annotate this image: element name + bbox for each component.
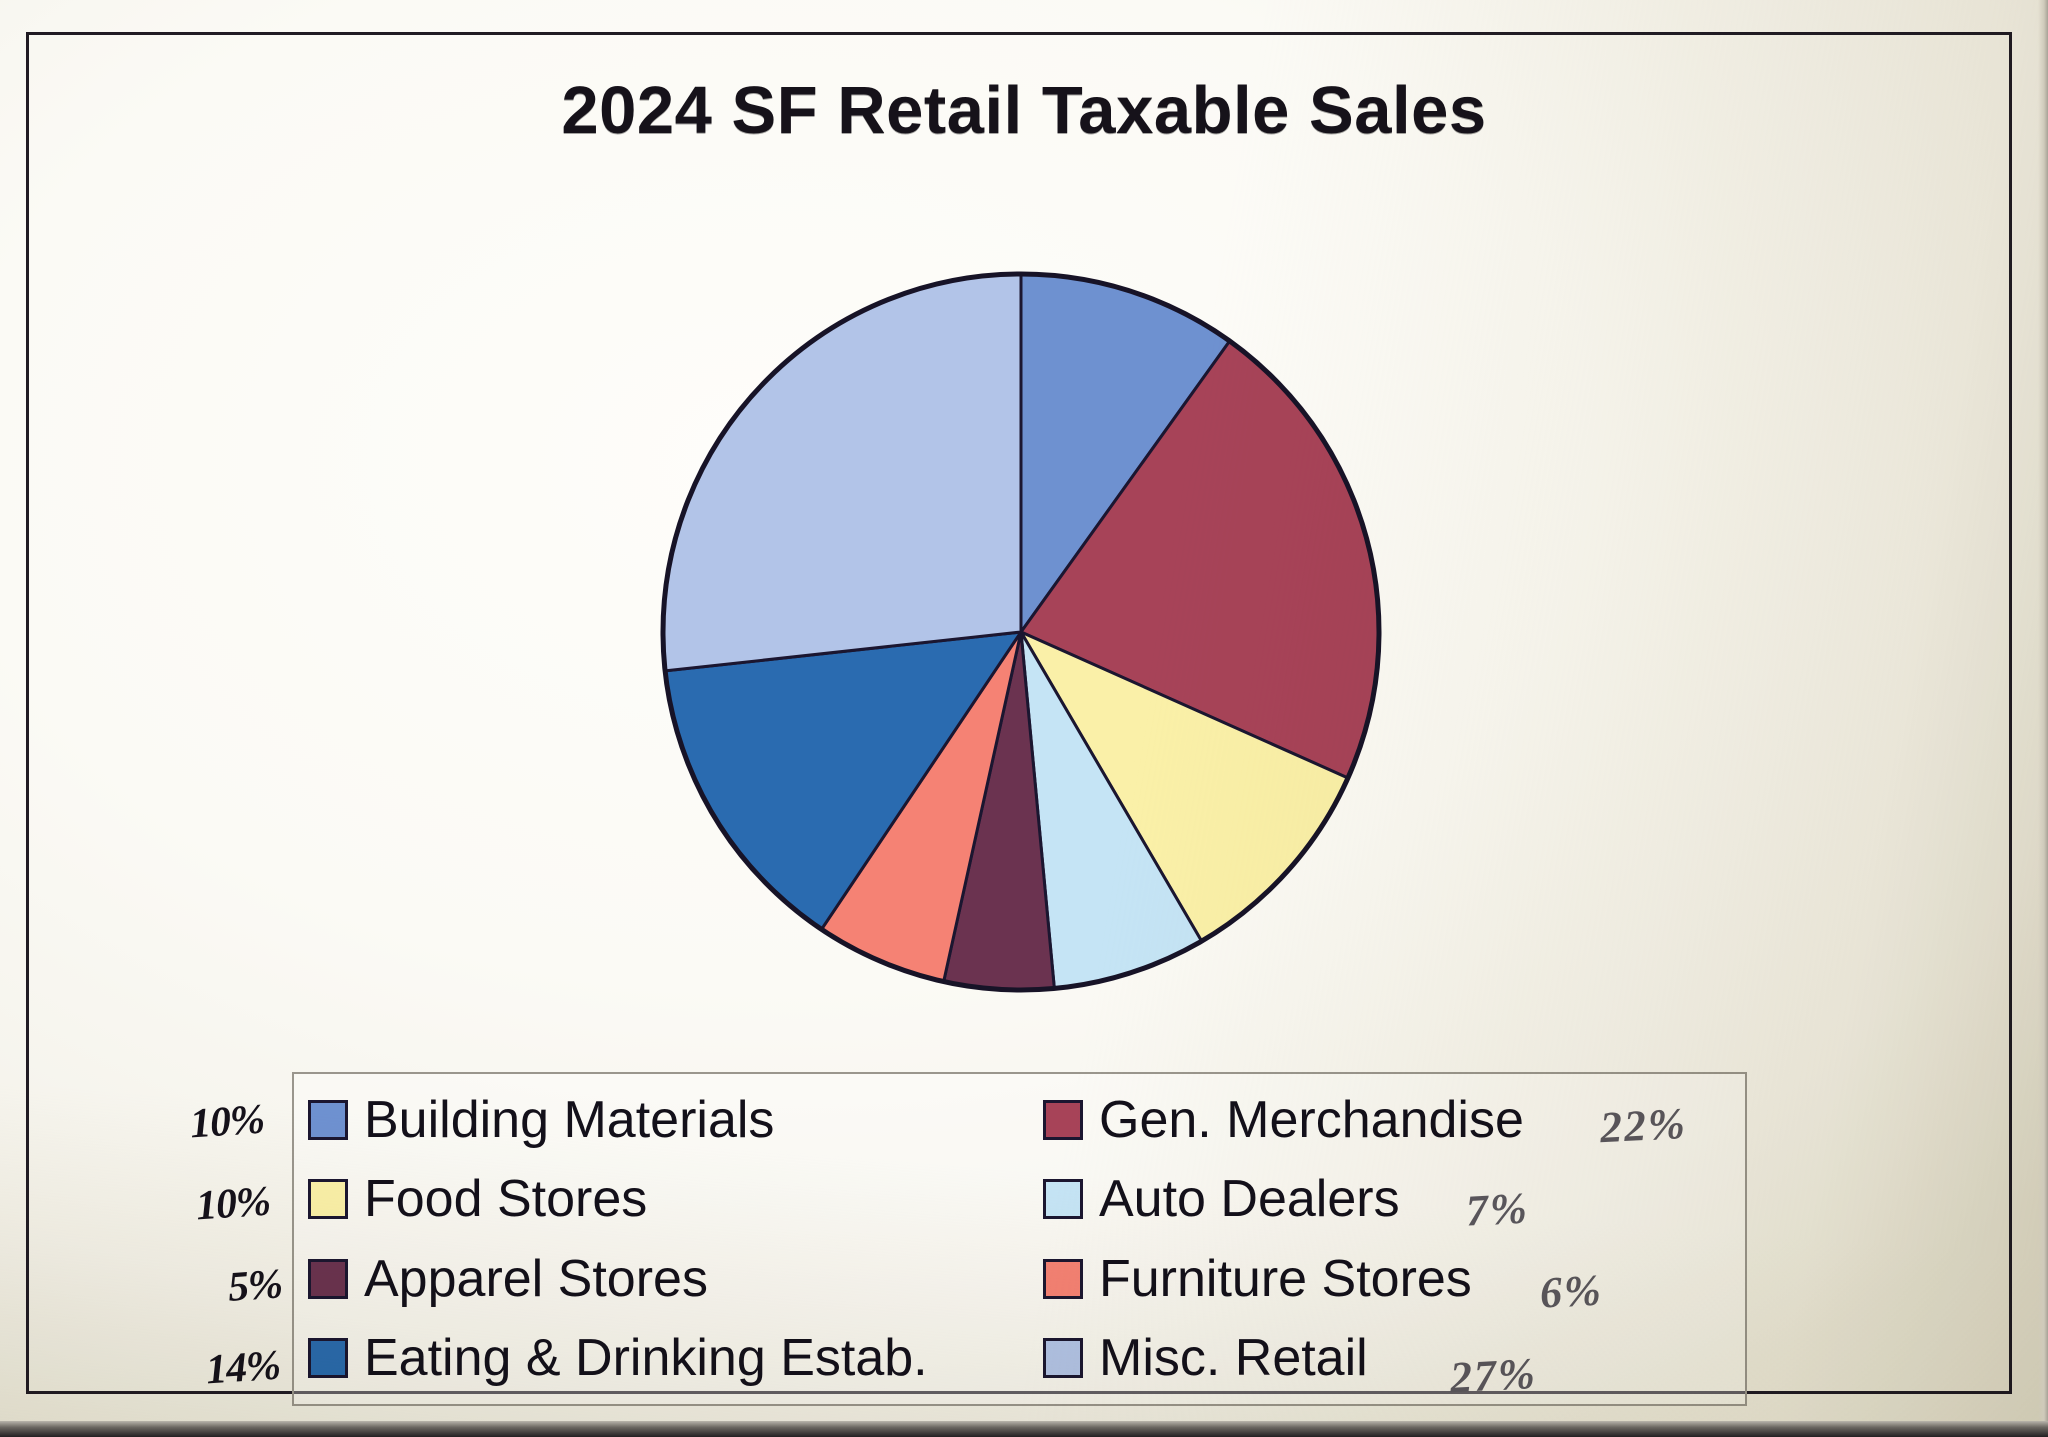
legend-item-food-stores[interactable]: Food Stores (308, 1160, 1043, 1240)
handwritten-percent-eating-drinking: 14% (204, 1341, 281, 1394)
pie-chart-svg (651, 262, 1391, 1002)
handwritten-percent-building-materials: 10% (188, 1095, 265, 1148)
desk-edge (0, 1421, 2048, 1437)
pie-slice-group (663, 274, 1379, 990)
legend-item-auto-dealers[interactable]: Auto Dealers (1043, 1160, 1763, 1240)
legend-item-label: Gen. Merchandise (1099, 1094, 1524, 1146)
legend-item-eating-drinking[interactable]: Eating & Drinking Estab. (308, 1319, 1043, 1399)
page-title: 2024 SF Retail Taxable Sales (0, 72, 2048, 149)
pie-chart (651, 262, 1391, 1002)
legend-swatch-icon (1043, 1259, 1083, 1299)
legend-swatch-icon (1043, 1100, 1083, 1140)
legend-item-misc-retail[interactable]: Misc. Retail (1043, 1319, 1763, 1399)
legend: Building Materials Gen. Merchandise Food… (292, 1072, 1747, 1406)
legend-swatch-icon (308, 1179, 348, 1219)
legend-item-label: Building Materials (364, 1094, 774, 1146)
legend-item-furniture-stores[interactable]: Furniture Stores (1043, 1239, 1763, 1319)
legend-item-label: Misc. Retail (1099, 1332, 1368, 1384)
pie-slice[interactable] (663, 274, 1021, 671)
handwritten-percent-food-stores: 10% (194, 1177, 271, 1230)
legend-swatch-icon (308, 1100, 348, 1140)
legend-item-label: Furniture Stores (1099, 1253, 1472, 1305)
legend-item-apparel-stores[interactable]: Apparel Stores (308, 1239, 1043, 1319)
handwritten-percent-apparel-stores: 5% (226, 1260, 283, 1312)
page-right-edge (2038, 0, 2048, 1437)
legend-item-label: Apparel Stores (364, 1253, 708, 1305)
legend-item-label: Auto Dealers (1099, 1173, 1400, 1225)
legend-item-label: Eating & Drinking Estab. (364, 1332, 928, 1384)
legend-swatch-icon (308, 1338, 348, 1378)
legend-item-building-materials[interactable]: Building Materials (308, 1080, 1043, 1160)
legend-swatch-icon (1043, 1179, 1083, 1219)
legend-item-gen-merchandise[interactable]: Gen. Merchandise (1043, 1080, 1763, 1160)
slide-page: 2024 SF Retail Taxable Sales 10% 10% 5% … (0, 0, 2048, 1437)
legend-swatch-icon (1043, 1338, 1083, 1378)
legend-swatch-icon (308, 1259, 348, 1299)
legend-item-label: Food Stores (364, 1173, 647, 1225)
